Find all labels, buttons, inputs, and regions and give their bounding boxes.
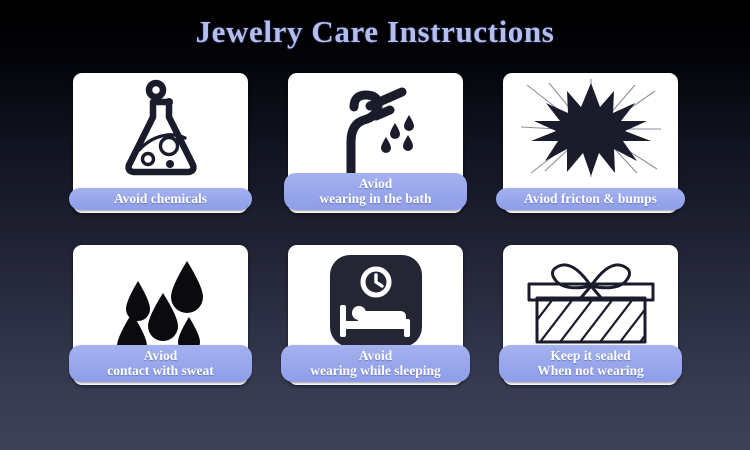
care-card-keep-sealed[interactable]: Keep it sealed When not wearing — [503, 245, 678, 385]
gift-box-icon — [503, 245, 678, 357]
card-label-line2: wearing while sleeping — [281, 363, 470, 378]
card-label: Aviod wearing in the bath — [284, 173, 467, 210]
sleeping-bed-clock-icon — [288, 245, 463, 357]
care-card-avoid-sweat[interactable]: Aviod contact with sweat — [73, 245, 248, 385]
care-card-avoid-friction[interactable]: Aviod fricton & bumps — [503, 73, 678, 213]
card-label-line2: contact with sweat — [69, 363, 252, 378]
jewelry-care-poster: Jewelry Care Instructions — [0, 0, 750, 450]
care-card-avoid-sleeping[interactable]: Avoid wearing while sleeping — [288, 245, 463, 385]
card-label-line1: Avoid — [359, 348, 393, 363]
sweat-droplets-icon — [73, 245, 248, 357]
care-instruction-grid: Avoid chemicals — [73, 73, 677, 385]
card-label-line2: When not wearing — [499, 363, 682, 378]
card-label: Avoid wearing while sleeping — [281, 345, 470, 382]
card-label-line2: wearing in the bath — [284, 191, 467, 206]
card-label-line1: Aviod — [359, 176, 393, 191]
card-label-line1: Aviod — [144, 348, 178, 363]
card-label-line1: Avoid chemicals — [114, 191, 207, 206]
care-card-avoid-bath[interactable]: Aviod wearing in the bath — [288, 73, 463, 213]
card-label-line1: Keep it sealed — [550, 348, 630, 363]
card-label: Avoid chemicals — [69, 188, 252, 210]
card-label: Keep it sealed When not wearing — [499, 345, 682, 382]
card-label: Aviod contact with sweat — [69, 345, 252, 382]
impact-burst-icon — [503, 73, 678, 185]
flask-icon — [73, 73, 248, 185]
page-title: Jewelry Care Instructions — [0, 14, 750, 50]
care-card-avoid-chemicals[interactable]: Avoid chemicals — [73, 73, 248, 213]
card-label: Aviod fricton & bumps — [496, 188, 685, 210]
card-label-line1: Aviod fricton & bumps — [524, 191, 657, 206]
shower-icon — [288, 73, 463, 185]
